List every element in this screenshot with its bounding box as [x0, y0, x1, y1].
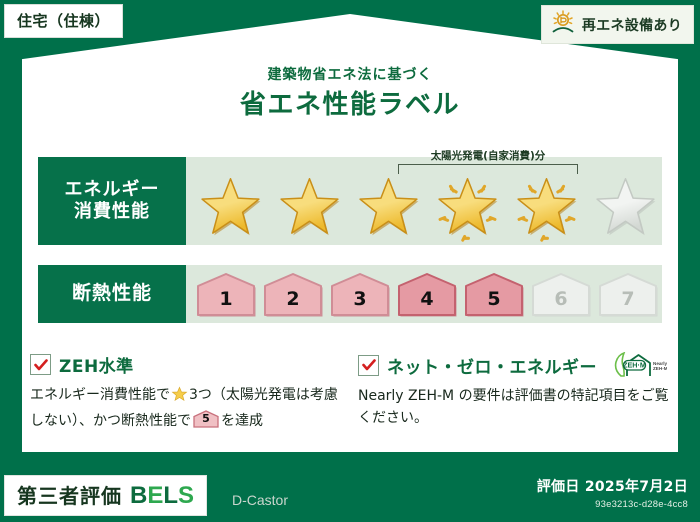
evaluation-date-label: 評価日: [537, 479, 580, 495]
inline-grade-value: 5: [193, 410, 219, 427]
net-zero-heading: ネット・ゼロ・エネルギー ZEH·M Nearly ZEH-M: [358, 352, 670, 378]
star-filled-icon: [192, 174, 269, 240]
grade-badge-active: 4: [395, 271, 459, 317]
zeh-body-part1: エネルギー消費性能で: [30, 387, 170, 403]
grade-value: 2: [286, 288, 299, 317]
building-type-tab: 住宅（住棟）: [4, 4, 123, 38]
renewable-energy-badge: 再エネ設備あり: [541, 5, 694, 44]
insulation-performance-label: 断熱性能: [38, 265, 186, 323]
checkbox-checked-icon: [30, 354, 51, 375]
bels-letter: E: [147, 482, 163, 509]
insulation-performance-row: 断熱性能 1234567: [38, 265, 662, 323]
zeh-standard-block: ZEH水準 エネルギー消費性能で3つ（太陽光発電は考慮しない）、かつ断熱性能で5…: [30, 352, 346, 432]
net-zero-body: Nearly ZEH-M の要件は評価書の特記項目をご覧ください。: [358, 386, 670, 429]
zeh-standard-heading: ZEH水準: [30, 352, 346, 377]
grade-scale: 1234567: [194, 265, 662, 323]
grade-badge-active: 3: [328, 271, 392, 317]
grade-value: 4: [420, 288, 433, 317]
energy-label-card: 住宅（住棟） 再エネ設備あり 建築物省エネ法に基づく 省エネ性能: [0, 0, 700, 522]
evaluation-date: 評価日 2025年7月2日: [537, 476, 688, 496]
svg-text:ZEH·M: ZEH·M: [623, 361, 646, 370]
grade-value: 1: [219, 288, 232, 317]
renewable-badge-label: 再エネ設備あり: [582, 15, 682, 35]
zeh-body-part3: を達成: [221, 413, 263, 429]
evaluation-date-value: 2025年7月2日: [585, 479, 688, 495]
net-zero-title: ネット・ゼロ・エネルギー: [387, 353, 597, 378]
grade-badge-active: 5: [462, 271, 526, 317]
grade-value: 3: [353, 288, 366, 317]
evaluation-info: 評価日 2025年7月2日 93e3213c-d28e-4cc8: [537, 476, 688, 510]
solar-sun-icon: [550, 10, 576, 39]
energy-performance-label: エネルギー 消費性能: [38, 157, 186, 245]
label-subtitle: 建築物省エネ法に基づく: [0, 64, 700, 84]
energy-label-line1: エネルギー: [65, 179, 160, 202]
star-filled-icon: [508, 174, 585, 240]
bels-letter: B: [130, 482, 147, 509]
grade-value: 6: [554, 288, 567, 317]
star-filled-icon: [350, 174, 427, 240]
star-empty-icon: [587, 174, 664, 240]
evaluation-uid: 93e3213c-d28e-4cc8: [537, 499, 688, 510]
star-filled-icon: [271, 174, 348, 240]
zeh-standard-body: エネルギー消費性能で3つ（太陽光発電は考慮しない）、かつ断熱性能で5を達成: [30, 385, 346, 432]
net-zero-energy-block: ネット・ゼロ・エネルギー ZEH·M Nearly ZEH-M Nearly Z…: [358, 352, 670, 429]
grade-badge-active: 1: [194, 271, 258, 317]
star-filled-icon: [429, 174, 506, 240]
page-title: 省エネ性能ラベル: [0, 84, 700, 121]
grade-value: 5: [487, 288, 500, 317]
brand-name: D-Castor: [232, 492, 288, 508]
grade-badge-inactive: 7: [596, 271, 660, 317]
inline-star-icon: [171, 386, 188, 410]
bels-footer-box: 第三者評価 BELS: [4, 475, 207, 516]
bels-letter: L: [163, 482, 178, 509]
grade-value: 7: [621, 288, 634, 317]
bels-logo: BELS: [130, 482, 194, 510]
star-rating: [192, 173, 662, 241]
grade-badge-active: 2: [261, 271, 325, 317]
bels-letter: S: [178, 482, 194, 509]
grade-badge-inactive: 6: [529, 271, 593, 317]
zeh-m-logo: ZEH·M Nearly ZEH-M: [611, 352, 667, 378]
zeh-standard-title: ZEH水準: [59, 352, 134, 377]
solar-generation-annotation: 太陽光発電(自家消費)分: [398, 148, 578, 174]
inline-grade-badge: 5: [193, 410, 219, 428]
solar-annotation-bracket: [398, 164, 578, 174]
insulation-grades-area: 1234567: [186, 265, 662, 323]
checkbox-checked-icon: [358, 355, 379, 376]
third-party-label: 第三者評価: [17, 480, 122, 509]
svg-text:ZEH-M: ZEH-M: [653, 366, 667, 371]
solar-annotation-label: 太陽光発電(自家消費)分: [398, 148, 578, 163]
energy-label-line2: 消費性能: [74, 201, 150, 224]
